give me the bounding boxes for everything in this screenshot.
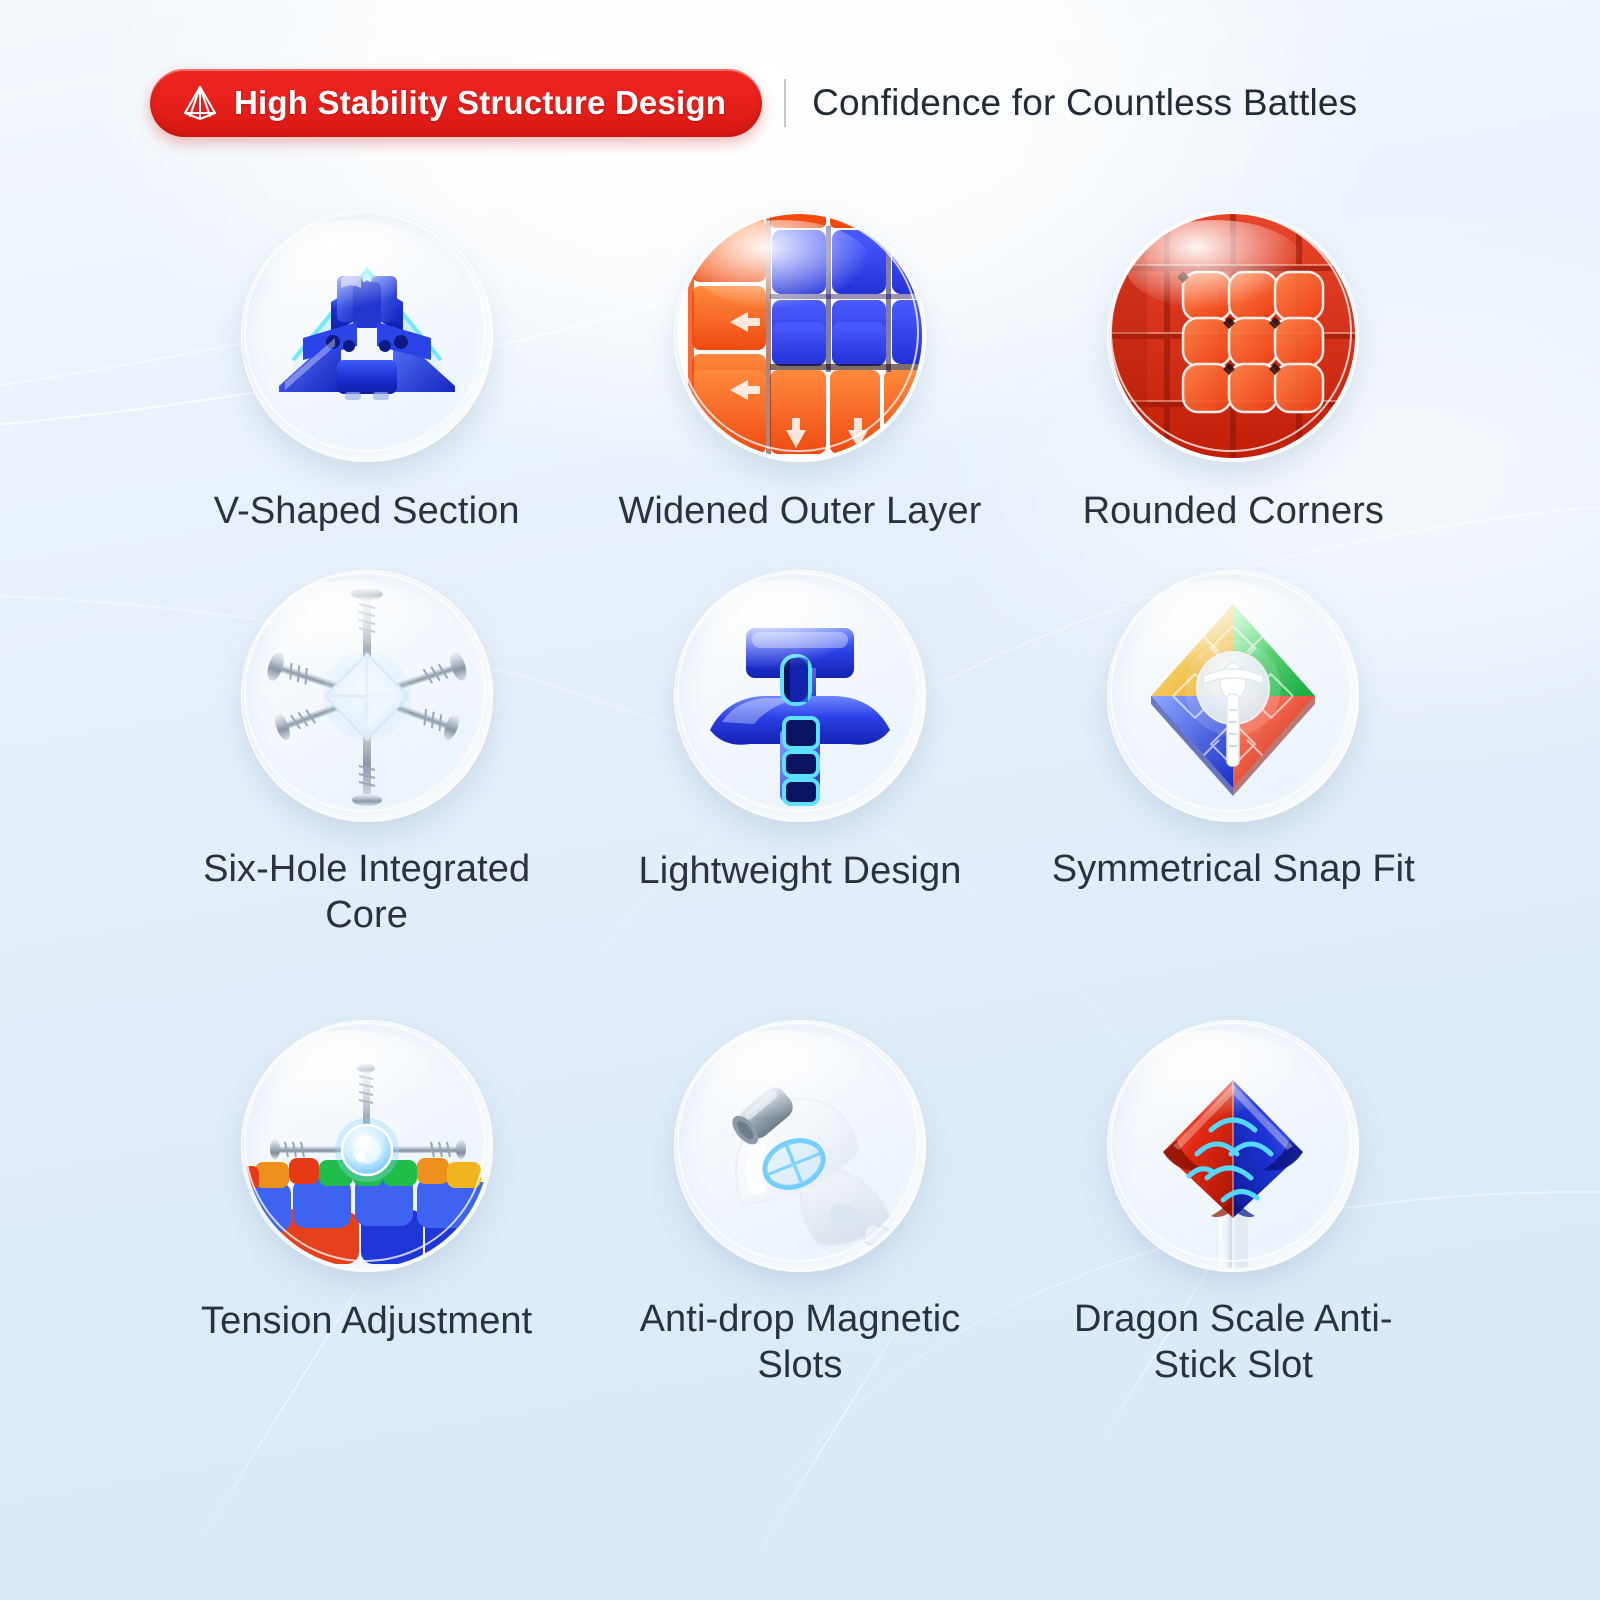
pyramid-wireframe-icon (180, 84, 220, 122)
feature-orb (241, 1020, 493, 1272)
header: High Stability Structure Design Confiden… (0, 60, 1600, 146)
feature-orb (241, 570, 493, 822)
infographic-stage: High Stability Structure Design Confiden… (0, 0, 1600, 1600)
feature-label: Lightweight Design (639, 848, 962, 894)
feature-orb (1107, 1020, 1359, 1272)
feature-label: Symmetrical Snap Fit (1052, 846, 1415, 892)
glass-orb (1107, 570, 1359, 822)
glass-orb (674, 1020, 926, 1272)
hollow-edge-piece-icon (674, 570, 926, 822)
glass-orb (241, 570, 493, 822)
glass-orb (241, 210, 493, 462)
feature-card-symmetrical-snap-fit: Symmetrical Snap Fit (1017, 570, 1450, 1020)
headline: Confidence for Countless Battles (812, 82, 1357, 124)
glass-orb (1107, 210, 1359, 462)
exploded-cube-top-view-icon (1107, 570, 1359, 822)
feature-card-dragon-scale-anti-stick-slot: Dragon Scale Anti-Stick Slot (1017, 1020, 1450, 1470)
feature-orb (1107, 570, 1359, 822)
feature-card-anti-drop-magnetic-slots: Anti-drop Magnetic Slots (583, 1020, 1016, 1470)
high-stability-badge: High Stability Structure Design (150, 69, 762, 137)
feature-grid: V-Shaped Section (150, 210, 1450, 1470)
feature-row-3: Tension Adjustment (150, 1020, 1450, 1470)
feature-row-1: V-Shaped Section (150, 210, 1450, 570)
feature-orb (674, 570, 926, 822)
feature-row-2: Six-Hole Integrated Core (150, 570, 1450, 1020)
feature-card-v-shaped-section: V-Shaped Section (150, 210, 583, 570)
six-screw-core-icon (241, 570, 493, 822)
feature-card-rounded-corners: Rounded Corners (1017, 210, 1450, 570)
rounded-corner-tiles-icon (1107, 210, 1359, 462)
header-divider (784, 79, 786, 127)
feature-label: Rounded Corners (1083, 488, 1384, 534)
glass-orb (241, 1020, 493, 1272)
feature-card-tension-adjustment: Tension Adjustment (150, 1020, 583, 1470)
feature-label: Dragon Scale Anti-Stick Slot (1033, 1296, 1433, 1389)
v-shaped-cube-section-icon (241, 210, 493, 462)
feature-label: V-Shaped Section (214, 488, 520, 534)
feature-card-widened-outer-layer: Widened Outer Layer (583, 210, 1016, 570)
feature-label: Widened Outer Layer (618, 488, 981, 534)
badge-label: High Stability Structure Design (234, 84, 726, 122)
feature-label: Anti-drop Magnetic Slots (600, 1296, 1000, 1389)
glass-orb (1107, 1020, 1359, 1272)
feature-card-six-hole-integrated-core: Six-Hole Integrated Core (150, 570, 583, 1020)
magnet-slot-corner-icon (674, 1020, 926, 1272)
feature-label: Tension Adjustment (201, 1298, 532, 1344)
glass-orb (674, 570, 926, 822)
widened-outer-layer-tiles-icon (674, 210, 926, 462)
feature-orb (674, 210, 926, 462)
tension-screw-dial-icon (241, 1020, 493, 1272)
dragon-scale-diamond-icon (1107, 1020, 1359, 1272)
feature-card-lightweight-design: Lightweight Design (583, 570, 1016, 1020)
feature-orb (1107, 210, 1359, 462)
feature-orb (241, 210, 493, 462)
feature-orb (674, 1020, 926, 1272)
glass-orb (674, 210, 926, 462)
feature-label: Six-Hole Integrated Core (167, 846, 567, 939)
